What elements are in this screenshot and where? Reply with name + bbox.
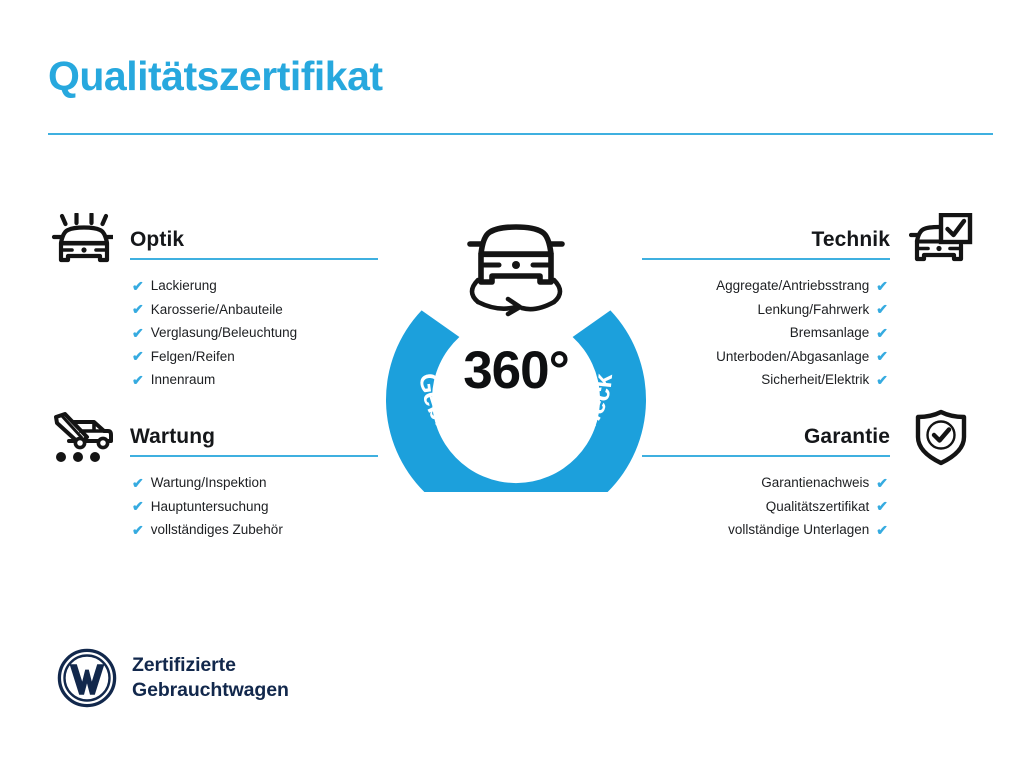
section-wartung-divider [130, 455, 378, 457]
check-icon: ✔ [132, 373, 144, 387]
check-icon: ✔ [876, 326, 888, 340]
certificate-page: Qualitätszertifikat [0, 0, 1024, 768]
list-item: ✔ Innenraum [132, 368, 380, 392]
section-wartung-list: ✔ Wartung/Inspektion ✔ Hauptuntersuchung… [40, 471, 380, 542]
section-garantie-list: Garantienachweis ✔ Qualitätszertifikat ✔… [640, 471, 980, 542]
check-icon: ✔ [876, 476, 888, 490]
badge-value: 360° [372, 340, 660, 401]
check-icon: ✔ [132, 349, 144, 363]
list-item-label: Innenraum [151, 368, 216, 392]
section-wartung-title: Wartung [130, 425, 215, 449]
list-item-label: Qualitätszertifikat [766, 495, 870, 519]
list-item: vollständige Unterlagen ✔ [640, 518, 888, 542]
car-service-tool-icon [44, 409, 118, 467]
list-item-label: vollständiges Zubehör [151, 518, 283, 542]
list-item-label: Karosserie/Anbauteile [151, 298, 283, 322]
page-title: Qualitätszertifikat [48, 54, 383, 99]
list-item-label: Sicherheit/Elektrik [761, 368, 869, 392]
list-item-label: Wartung/Inspektion [151, 471, 267, 495]
list-item-label: Aggregate/Antriebsstrang [716, 274, 869, 298]
list-item: Aggregate/Antriebsstrang ✔ [640, 274, 888, 298]
section-garantie-title: Garantie [804, 425, 890, 449]
list-item: Bremsanlage ✔ [640, 321, 888, 345]
check-icon: ✔ [132, 523, 144, 537]
brand-line-1: Zertifizierte [132, 653, 289, 678]
check-icon: ✔ [876, 279, 888, 293]
brand-line-2: Gebrauchtwagen [132, 678, 289, 703]
section-technik: Technik Aggregate/Antriebsstrang ✔ Lenku… [640, 212, 980, 392]
section-wartung: Wartung ✔ Wartung/Inspektion ✔ Hauptunte… [40, 409, 380, 542]
center-badge: Gebrauchtwagen-Check 360° [372, 192, 660, 492]
shield-check-icon [904, 409, 978, 467]
list-item-label: Hauptuntersuchung [151, 495, 269, 519]
section-garantie: Garantie Garantienachweis ✔ Qualitätszer… [640, 409, 980, 542]
list-item: ✔ Karosserie/Anbauteile [132, 298, 380, 322]
list-item-label: vollständige Unterlagen [728, 518, 869, 542]
list-item: Qualitätszertifikat ✔ [640, 495, 888, 519]
section-optik: Optik ✔ Lackierung ✔ Karosserie/Anbautei… [40, 212, 380, 392]
list-item: ✔ Lackierung [132, 274, 380, 298]
section-garantie-divider [642, 455, 890, 457]
vw-logo-icon: Zertifizierte Gebrauchtwagen [57, 648, 289, 708]
check-icon: ✔ [132, 326, 144, 340]
section-technik-title: Technik [812, 228, 891, 252]
section-optik-divider [130, 258, 378, 260]
list-item: Lenkung/Fahrwerk ✔ [640, 298, 888, 322]
section-wartung-header: Wartung [40, 409, 380, 457]
check-icon: ✔ [876, 523, 888, 537]
list-item-label: Lenkung/Fahrwerk [757, 298, 869, 322]
list-item: ✔ Wartung/Inspektion [132, 471, 380, 495]
check-icon: ✔ [876, 373, 888, 387]
title-divider [48, 133, 993, 135]
list-item: ✔ Hauptuntersuchung [132, 495, 380, 519]
check-icon: ✔ [132, 476, 144, 490]
list-item-label: Bremsanlage [790, 321, 870, 345]
list-item-label: Lackierung [151, 274, 217, 298]
check-icon: ✔ [876, 499, 888, 513]
list-item-label: Felgen/Reifen [151, 345, 235, 369]
check-icon: ✔ [132, 499, 144, 513]
section-optik-title: Optik [130, 228, 184, 252]
list-item: ✔ vollständiges Zubehör [132, 518, 380, 542]
list-item: Sicherheit/Elektrik ✔ [640, 368, 888, 392]
list-item-label: Verglasung/Beleuchtung [151, 321, 297, 345]
section-technik-divider [642, 258, 890, 260]
check-icon: ✔ [132, 302, 144, 316]
car-front-checkbox-icon [904, 212, 978, 270]
brand-text: Zertifizierte Gebrauchtwagen [132, 653, 289, 703]
check-icon: ✔ [132, 279, 144, 293]
section-optik-header: Optik [40, 212, 380, 260]
section-optik-list: ✔ Lackierung ✔ Karosserie/Anbauteile ✔ V… [40, 274, 380, 392]
check-icon: ✔ [876, 349, 888, 363]
section-technik-list: Aggregate/Antriebsstrang ✔ Lenkung/Fahrw… [640, 274, 980, 392]
car-front-shine-icon [44, 212, 118, 270]
check-icon: ✔ [876, 302, 888, 316]
list-item: ✔ Felgen/Reifen [132, 345, 380, 369]
list-item: Garantienachweis ✔ [640, 471, 888, 495]
list-item: Unterboden/Abgasanlage ✔ [640, 345, 888, 369]
section-technik-header: Technik [640, 212, 980, 260]
list-item-label: Unterboden/Abgasanlage [716, 345, 869, 369]
section-garantie-header: Garantie [640, 409, 980, 457]
list-item-label: Garantienachweis [761, 471, 869, 495]
list-item: ✔ Verglasung/Beleuchtung [132, 321, 380, 345]
